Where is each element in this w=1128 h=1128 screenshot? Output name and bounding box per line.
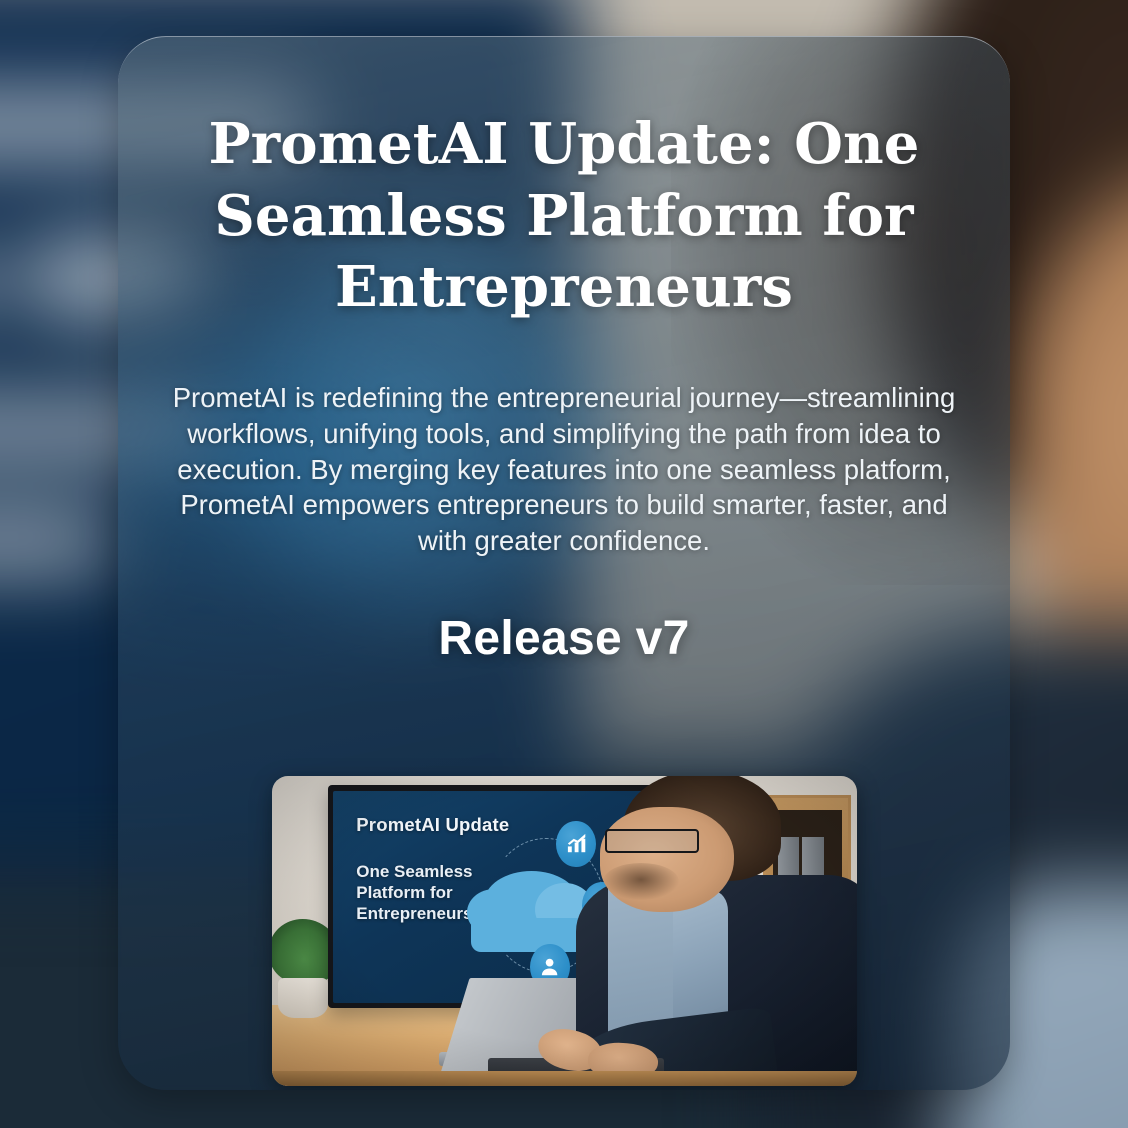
embedded-photo: PrometAI Update One Seamless Platform fo…: [272, 776, 857, 1086]
content-card: PrometAI Update: One Seamless Platform f…: [118, 36, 1010, 1090]
release-badge: Release v7: [118, 611, 1010, 666]
photo-plant-pot: [278, 978, 328, 1018]
photo-desk-edge: [272, 1071, 857, 1087]
screen-subtitle-line-3: Entrepreneurs: [356, 903, 472, 924]
screen-title: PrometAI Update: [356, 814, 509, 836]
screen-subtitle-line-1: One Seamless: [356, 861, 472, 882]
chart-icon: [556, 821, 596, 868]
photo-person-beard: [603, 863, 679, 900]
glasses-icon: [605, 829, 699, 854]
page-title: PrometAI Update: One Seamless Platform f…: [172, 109, 956, 324]
body-paragraph: PrometAI is redefining the entrepreneuri…: [162, 380, 966, 559]
cloud-icon-base: [471, 918, 589, 952]
screen-subtitle-line-2: Platform for: [356, 882, 472, 903]
background-text-blur: [0, 516, 112, 568]
poster-canvas: PrometAI Update: One Seamless Platform f…: [0, 0, 1128, 1128]
screen-subtitle: One Seamless Platform for Entrepreneurs: [356, 861, 472, 925]
